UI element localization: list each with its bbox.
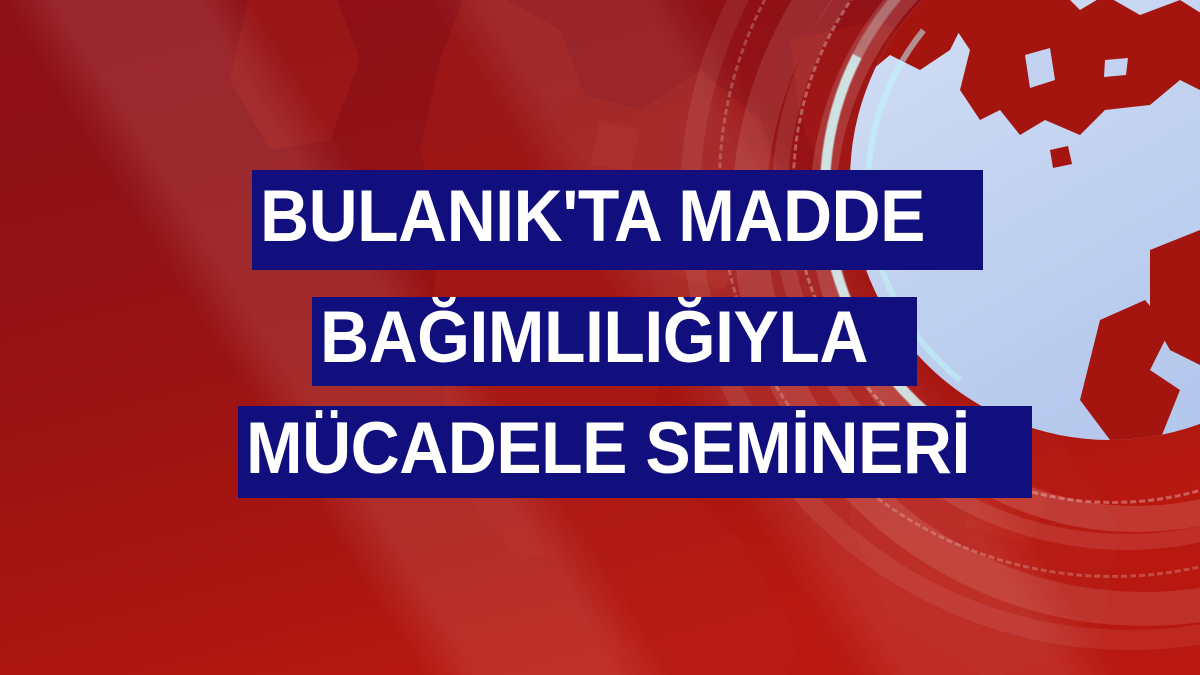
headline-line-2-text: BAĞIMLILIĞIYLA xyxy=(320,301,868,374)
headline-block: BULANIK'TA MADDE BAĞIMLILIĞIYLA MÜCADELE… xyxy=(0,0,1200,675)
headline-line-3: MÜCADELE SEMİNERİ xyxy=(238,406,1032,498)
banner-image: BULANIK'TA MADDE BAĞIMLILIĞIYLA MÜCADELE… xyxy=(0,0,1200,675)
headline-line-3-text: MÜCADELE SEMİNERİ xyxy=(246,412,970,485)
headline-line-1-text: BULANIK'TA MADDE xyxy=(260,180,925,253)
headline-line-1: BULANIK'TA MADDE xyxy=(252,170,983,270)
headline-line-2: BAĞIMLILIĞIYLA xyxy=(312,297,917,386)
